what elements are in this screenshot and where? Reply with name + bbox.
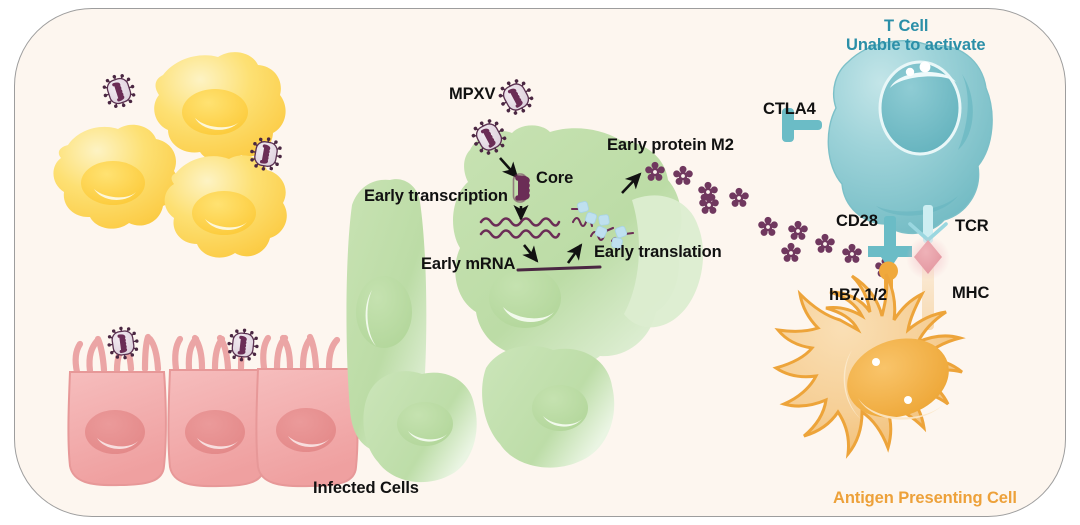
label-tcell-status: Unable to activate bbox=[846, 36, 985, 55]
label-mpxv: MPXV bbox=[449, 85, 495, 104]
t-cell bbox=[828, 41, 992, 234]
label-early-translation: Early translation bbox=[594, 243, 722, 262]
label-hb7: hB7.1/2 bbox=[829, 286, 887, 305]
label-tcell-title: T Cell bbox=[884, 17, 928, 36]
label-early-protein-m2: Early protein M2 bbox=[607, 136, 734, 155]
mpxv-virion bbox=[99, 70, 140, 112]
figure-canvas: MPXV Core Early transcription Early mRNA… bbox=[0, 0, 1080, 525]
label-early-transcription: Early transcription bbox=[364, 187, 508, 206]
epithelial-pink-cells bbox=[68, 337, 357, 486]
uninfected-yellow-cells bbox=[53, 52, 286, 257]
label-core: Core bbox=[536, 169, 573, 188]
mpxv-virion bbox=[105, 325, 141, 362]
label-tcr: TCR bbox=[955, 217, 989, 236]
label-ctla4: CTLA4 bbox=[763, 100, 816, 119]
illustration-layer bbox=[0, 0, 1080, 525]
label-mhc: MHC bbox=[952, 284, 989, 303]
label-apc: Antigen Presenting Cell bbox=[833, 489, 1017, 508]
label-cd28: CD28 bbox=[836, 212, 878, 231]
label-early-mrna: Early mRNA bbox=[421, 255, 515, 274]
label-infected-cells: Infected Cells bbox=[313, 479, 419, 498]
mpxv-virion bbox=[493, 74, 539, 120]
